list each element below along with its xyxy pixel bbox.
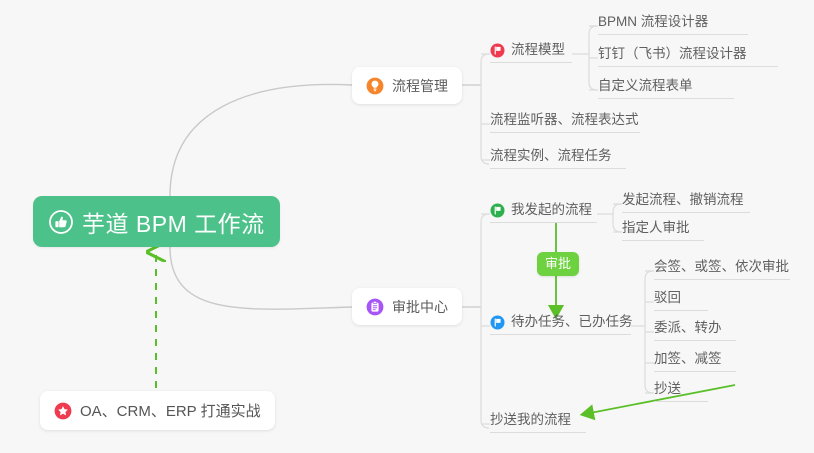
leaf-label-start-cancel-flow: 发起流程、撤销流程 [622, 191, 744, 209]
leaf-cc[interactable]: 抄送 [654, 380, 708, 402]
lightbulb-icon [366, 77, 384, 95]
leaf-process-listener[interactable]: 流程监听器、流程表达式 [490, 111, 640, 133]
approval-flow-badge-label: 审批 [545, 256, 571, 271]
leaf-label-custom-form: 自定义流程表单 [598, 77, 693, 95]
flag-icon [490, 203, 505, 218]
bracket-mystart [613, 204, 621, 232]
leaf-label-cc: 抄送 [654, 380, 681, 398]
leaf-process-model[interactable]: 流程模型 [490, 41, 572, 63]
leaf-my-started-flow[interactable]: 我发起的流程 [490, 201, 597, 223]
bottom-note-node[interactable]: OA、CRM、ERP 打通实战 [40, 391, 275, 430]
flag-icon [490, 315, 505, 330]
leaf-label-add-remove-sign: 加签、减签 [654, 350, 722, 368]
leaf-bpmn-designer[interactable]: BPMN 流程设计器 [598, 13, 748, 35]
bracket-approval [481, 214, 489, 428]
leaf-label-delegate-transfer: 委派、转办 [654, 319, 722, 337]
link-root-to-process [170, 84, 352, 196]
leaf-custom-form[interactable]: 自定义流程表单 [598, 77, 734, 99]
leaf-todo-done-tasks[interactable]: 待办任务、已办任务 [490, 313, 631, 335]
root-label: 芋道 BPM 工作流 [82, 205, 265, 239]
leaf-label-process-model: 流程模型 [511, 41, 565, 59]
leaf-assignee-approve[interactable]: 指定人审批 [622, 219, 704, 241]
leaf-label-bpmn-designer: BPMN 流程设计器 [598, 13, 708, 31]
mindmap-canvas: 芋道 BPM 工作流 流程管理 审批中心 [0, 0, 814, 453]
leaf-label-my-started-flow: 我发起的流程 [511, 201, 592, 219]
leaf-reject[interactable]: 驳回 [654, 289, 708, 311]
branch-label-approval-center: 审批中心 [392, 297, 448, 317]
leaf-label-todo-done-tasks: 待办任务、已办任务 [511, 313, 633, 331]
thumbs-up-icon [49, 210, 73, 234]
clipboard-icon [366, 298, 384, 316]
root-node[interactable]: 芋道 BPM 工作流 [33, 196, 280, 247]
leaf-start-cancel-flow[interactable]: 发起流程、撤销流程 [622, 191, 750, 213]
branch-node-approval-center[interactable]: 审批中心 [352, 288, 462, 325]
branch-label-process-management: 流程管理 [392, 76, 448, 96]
bracket-process [481, 54, 489, 164]
leaf-dingtalk-designer[interactable]: 钉钉（飞书）流程设计器 [598, 45, 778, 67]
leaf-label-dingtalk-designer: 钉钉（飞书）流程设计器 [598, 45, 747, 63]
bracket-todo [645, 271, 653, 393]
bracket-model [589, 26, 597, 90]
leaf-label-process-listener: 流程监听器、流程表达式 [490, 111, 639, 129]
leaf-delegate-transfer[interactable]: 委派、转办 [654, 319, 736, 341]
branch-node-process-management[interactable]: 流程管理 [352, 67, 462, 104]
bottom-note-label: OA、CRM、ERP 打通实战 [80, 400, 261, 421]
leaf-countersign[interactable]: 会签、或签、依次审批 [654, 258, 790, 280]
link-root-to-approval [170, 247, 352, 309]
leaf-process-instance[interactable]: 流程实例、流程任务 [490, 147, 626, 169]
star-icon [54, 402, 72, 420]
leaf-cc-to-me[interactable]: 抄送我的流程 [490, 411, 586, 433]
leaf-label-assignee-approve: 指定人审批 [622, 219, 690, 237]
leaf-label-reject: 驳回 [654, 289, 681, 307]
flag-icon [490, 43, 505, 58]
leaf-label-process-instance: 流程实例、流程任务 [490, 147, 612, 165]
leaf-label-cc-to-me: 抄送我的流程 [490, 411, 571, 429]
leaf-add-remove-sign[interactable]: 加签、减签 [654, 350, 736, 372]
approval-flow-badge: 审批 [537, 252, 579, 276]
leaf-label-countersign: 会签、或签、依次审批 [654, 258, 789, 276]
